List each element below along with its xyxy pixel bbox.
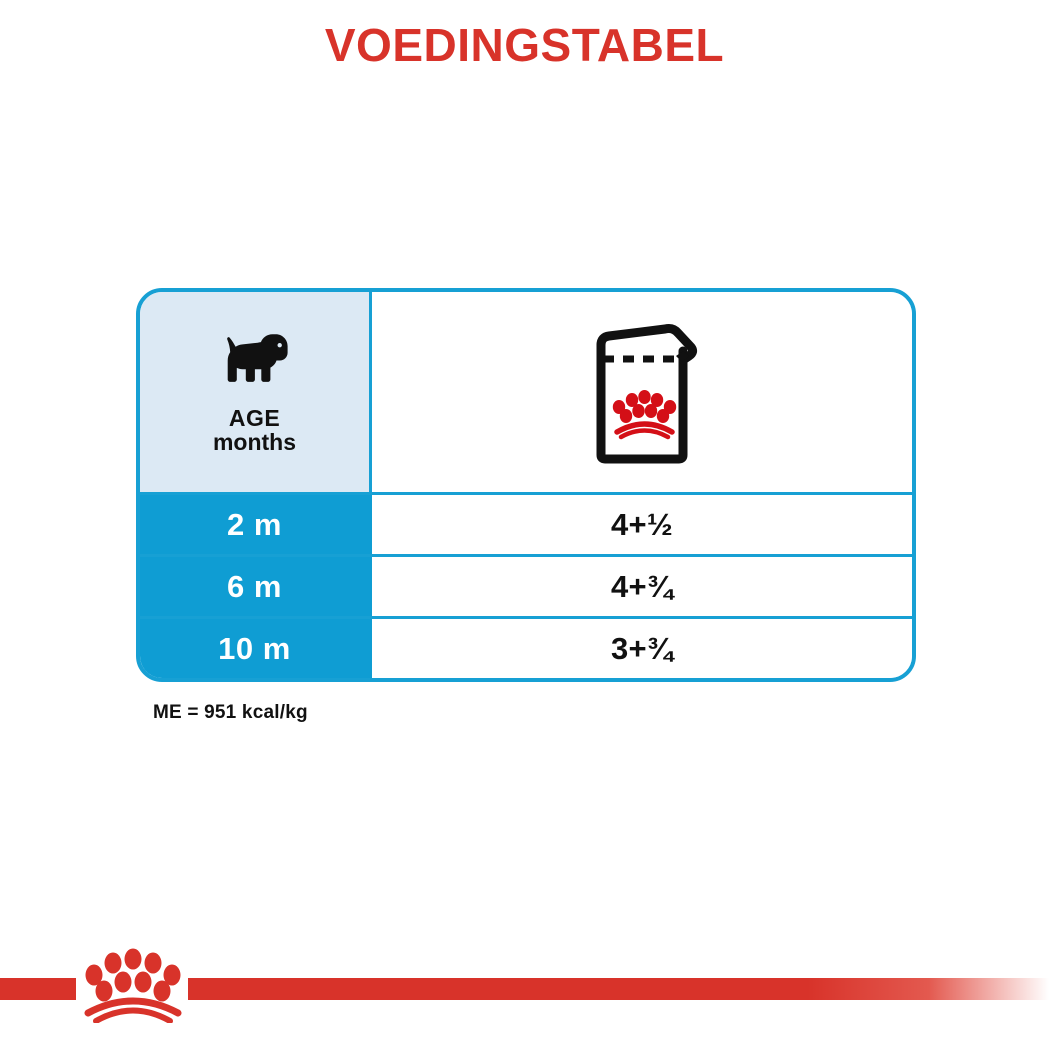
feeding-table: AGE months [136,288,916,682]
age-value: 2 m [227,507,282,543]
amount-value: 4+½ [611,507,673,543]
table-row: 6 m 4+¾ [140,554,912,616]
cell-age: 2 m [140,495,372,554]
amount-value: 3+¾ [611,631,673,667]
amount-value: 4+¾ [611,569,673,605]
header-cell-age: AGE months [140,292,372,492]
cell-age: 6 m [140,557,372,616]
cell-amount: 4+¾ [372,557,912,616]
brand-bar-right-segment [188,978,1049,1000]
table-row: 10 m 3+¾ [140,616,912,678]
brand-bar-left-segment [0,978,76,1000]
metabolisable-energy-note: ME = 951 kcal/kg [153,702,308,724]
header-cell-age-label: AGE months [213,407,296,454]
pouch-icon [579,315,705,470]
cell-amount: 3+¾ [372,619,912,678]
table-header-row: AGE months [140,292,912,492]
page-title: VOEDINGSTABEL [0,18,1049,72]
royal-canin-crown-logo [72,941,194,1023]
puppy-icon [212,330,298,395]
age-value: 6 m [227,569,282,605]
header-cell-pouch [372,292,912,492]
table-row: 2 m 4+½ [140,492,912,554]
age-label-line1: AGE [213,407,296,430]
cell-age: 10 m [140,619,372,678]
age-label-line2: months [213,431,296,454]
cell-amount: 4+½ [372,495,912,554]
age-value: 10 m [218,631,291,667]
